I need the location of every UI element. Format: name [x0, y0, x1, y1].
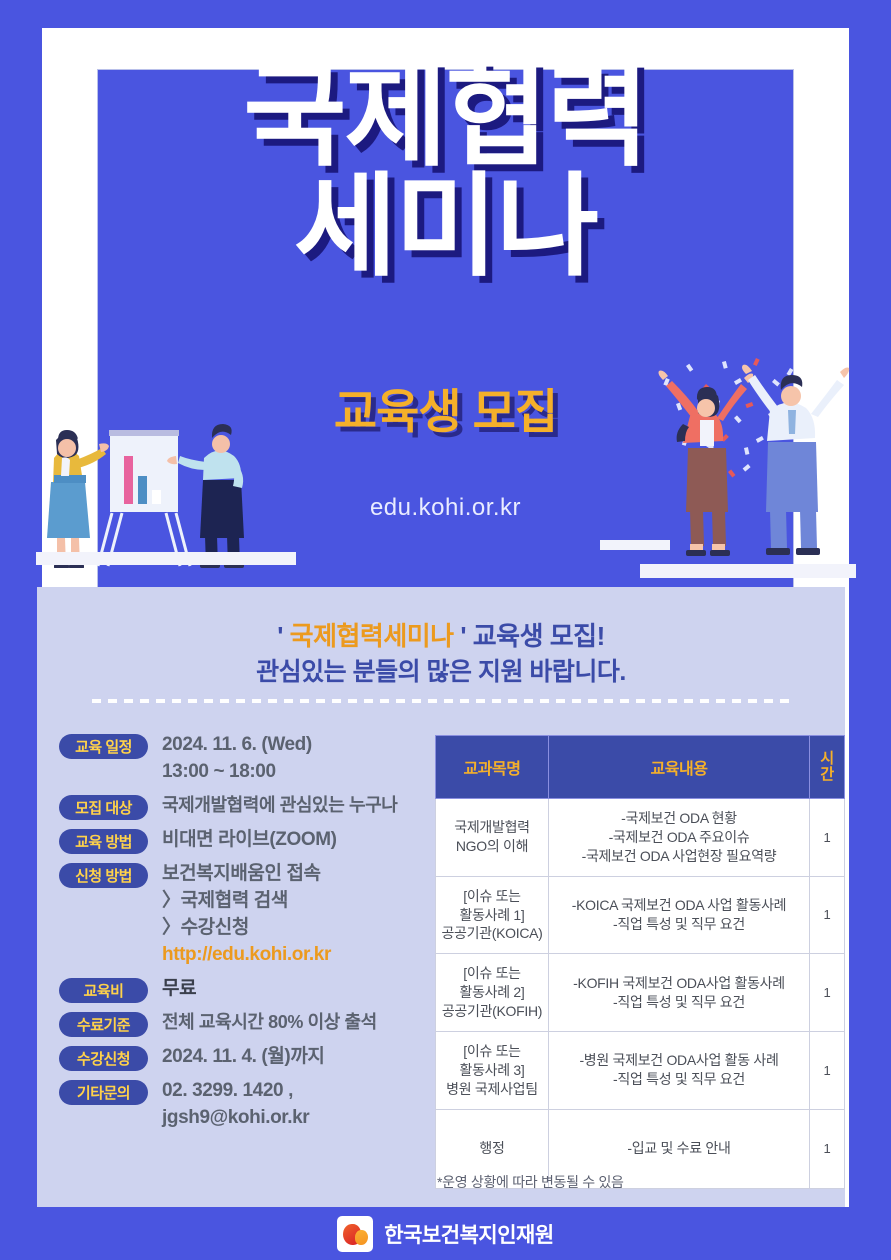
info-label: 수강신청 — [59, 1046, 148, 1071]
info-value: 국제개발협력에 관심있는 누구나 — [162, 793, 397, 819]
info-value: 전체 교육시간 80% 이상 출석 — [162, 1010, 377, 1036]
info-value: 비대면 라이브(ZOOM) — [162, 827, 337, 854]
quote-open: ' — [277, 621, 283, 651]
info-label: 신청 방법 — [59, 863, 148, 888]
curriculum-table-wrap: 교과목명 교육내용 시간 국제개발협력 NGO의 이해 -국제보건 ODA 현황 — [435, 735, 835, 1189]
table-row: [이슈 또는 활동사례 1] 공공기관(KOICA) -KOICA 국제보건 O… — [436, 876, 845, 954]
subject-line: 활동사례 2] — [460, 984, 525, 1000]
content-line: -국제보건 ODA 사업현장 필요역량 — [582, 848, 777, 864]
content-line: -병원 국제보건 ODA사업 활동 사례 — [579, 1052, 778, 1068]
content-line: -직업 특성 및 직무 요건 — [613, 994, 745, 1010]
table-row: [이슈 또는 활동사례 2] 공공기관(KOFIH) -KOFIH 국제보건 O… — [436, 954, 845, 1032]
panel-headline: ' 국제협력세미나 ' 교육생 모집! — [37, 616, 845, 653]
subject-line: 국제개발협력 — [454, 819, 529, 835]
info-label: 모집 대상 — [59, 795, 148, 820]
logo-blob-orange — [355, 1230, 368, 1245]
hero-url: edu.kohi.or.kr — [0, 494, 891, 522]
cell-content: -국제보건 ODA 현황 -국제보건 ODA 주요이슈 -국제보건 ODA 사업… — [549, 799, 810, 877]
info-values: 국제개발협력에 관심있는 누구나 — [162, 793, 397, 819]
cell-content: -병원 국제보건 ODA사업 활동 사례 -직업 특성 및 직무 요건 — [549, 1032, 810, 1110]
info-values: 보건복지배움인 접속 〉국제협력 검색 〉수강신청 http://edu.koh… — [162, 861, 331, 969]
content-line: -직업 특성 및 직무 요건 — [613, 1071, 745, 1087]
content-line: -국제보건 ODA 현황 — [621, 810, 737, 826]
info-row: 수강신청 2024. 11. 4. (월)까지 — [59, 1044, 459, 1071]
subject-line: 활동사례 1] — [460, 907, 525, 923]
info-value: 2024. 11. 4. (월)까지 — [162, 1044, 325, 1071]
headline-rest: 교육생 모집! — [473, 621, 605, 651]
headline-highlight: 국제협력세미나 — [290, 621, 454, 651]
subject-line: [이슈 또는 — [463, 1043, 521, 1059]
info-value: 02. 3299. 1420 , — [162, 1078, 309, 1105]
info-label: 교육비 — [59, 978, 148, 1003]
subject-line: [이슈 또는 — [463, 888, 521, 904]
footer: 한국보건복지인재원 — [0, 1207, 891, 1260]
info-row: 교육 방법 비대면 라이브(ZOOM) — [59, 827, 459, 854]
cell-content: -KOFIH 국제보건 ODA사업 활동사례 -직업 특성 및 직무 요건 — [549, 954, 810, 1032]
content-line: -KOFIH 국제보건 ODA사업 활동사례 — [573, 975, 785, 991]
cell-hours: 1 — [810, 1109, 845, 1188]
info-values: 비대면 라이브(ZOOM) — [162, 827, 337, 854]
kohi-logo-icon — [337, 1216, 373, 1252]
info-label: 교육 일정 — [59, 734, 148, 759]
floor-right-upper — [600, 540, 670, 550]
info-row: 기타문의 02. 3299. 1420 , jgsh9@kohi.or.kr — [59, 1078, 459, 1132]
table-row: 국제개발협력 NGO의 이해 -국제보건 ODA 현황 -국제보건 ODA 주요… — [436, 799, 845, 877]
table-note: *운영 상황에 따라 변동될 수 있음 — [437, 1172, 624, 1192]
info-value: 〉국제협력 검색 — [162, 888, 331, 915]
cell-hours: 1 — [810, 1032, 845, 1110]
quote-close: ' — [460, 621, 466, 651]
info-value: 무료 — [162, 976, 196, 1003]
info-label: 교육 방법 — [59, 829, 148, 854]
info-value: 보건복지배움인 접속 — [162, 861, 331, 888]
cell-subject: [이슈 또는 활동사례 2] 공공기관(KOFIH) — [436, 954, 549, 1032]
table-header-content: 교육내용 — [549, 736, 810, 799]
title-line-2: 세미나 — [0, 170, 891, 284]
cell-subject: [이슈 또는 활동사례 3] 병원 국제사업팀 — [436, 1032, 549, 1110]
info-value: 13:00 ~ 18:00 — [162, 759, 312, 786]
info-list: 교육 일정 2024. 11. 6. (Wed) 13:00 ~ 18:00 모… — [59, 732, 459, 1139]
cell-subject: 국제개발협력 NGO의 이해 — [436, 799, 549, 877]
info-label: 기타문의 — [59, 1080, 148, 1105]
cell-subject: [이슈 또는 활동사례 1] 공공기관(KOICA) — [436, 876, 549, 954]
table-header-row: 교과목명 교육내용 시간 — [436, 736, 845, 799]
info-values: 2024. 11. 4. (월)까지 — [162, 1044, 325, 1071]
contact-email[interactable]: jgsh9@kohi.or.kr — [162, 1105, 309, 1132]
table-row: [이슈 또는 활동사례 3] 병원 국제사업팀 -병원 국제보건 ODA사업 활… — [436, 1032, 845, 1110]
info-row: 신청 방법 보건복지배움인 접속 〉국제협력 검색 〉수강신청 http://e… — [59, 861, 459, 969]
subject-line: 공공기관(KOICA) — [441, 925, 542, 941]
info-panel: ' 국제협력세미나 ' 교육생 모집! 관심있는 분들의 많은 지원 바랍니다.… — [37, 587, 845, 1207]
cell-hours: 1 — [810, 799, 845, 877]
panel-headline-2: 관심있는 분들의 많은 지원 바랍니다. — [37, 652, 845, 688]
subject-line: 공공기관(KOFIH) — [442, 1003, 542, 1019]
info-values: 전체 교육시간 80% 이상 출석 — [162, 1010, 377, 1036]
cell-hours: 1 — [810, 954, 845, 1032]
subject-line: [이슈 또는 — [463, 965, 521, 981]
info-row: 교육 일정 2024. 11. 6. (Wed) 13:00 ~ 18:00 — [59, 732, 459, 786]
info-values: 02. 3299. 1420 , jgsh9@kohi.or.kr — [162, 1078, 309, 1132]
content-line: -국제보건 ODA 주요이슈 — [609, 829, 750, 845]
info-label: 수료기준 — [59, 1012, 148, 1037]
table-header-hours: 시간 — [810, 736, 845, 799]
subject-line: 활동사례 3] — [460, 1062, 525, 1078]
poster-root: 국제협력 세미나 교육생 모집 edu.kohi.or.kr ' 국제협력세미나… — [0, 0, 891, 1260]
table-header-subject: 교과목명 — [436, 736, 549, 799]
floor-left — [36, 552, 296, 565]
dotted-divider — [92, 699, 792, 703]
info-values: 무료 — [162, 976, 196, 1003]
poster-title: 국제협력 세미나 — [0, 60, 891, 284]
application-url[interactable]: http://edu.kohi.or.kr — [162, 942, 331, 969]
info-row: 수료기준 전체 교육시간 80% 이상 출석 — [59, 1010, 459, 1037]
floor-right — [640, 564, 856, 578]
content-line: -KOICA 국제보건 ODA 사업 활동사례 — [572, 897, 786, 913]
title-line-1: 국제협력 — [0, 60, 891, 174]
info-value: 2024. 11. 6. (Wed) — [162, 732, 312, 759]
curriculum-table: 교과목명 교육내용 시간 국제개발협력 NGO의 이해 -국제보건 ODA 현황 — [435, 735, 845, 1189]
poster-subtitle: 교육생 모집 — [0, 373, 891, 442]
subject-line: NGO의 이해 — [456, 838, 528, 854]
subject-line: 병원 국제사업팀 — [446, 1081, 538, 1097]
content-line: -직업 특성 및 직무 요건 — [613, 916, 745, 932]
organization-name: 한국보건복지인재원 — [384, 1219, 553, 1249]
hero-section: 국제협력 세미나 교육생 모집 edu.kohi.or.kr — [0, 0, 891, 590]
info-value: 〉수강신청 — [162, 915, 331, 942]
info-row: 교육비 무료 — [59, 976, 459, 1003]
cell-content: -KOICA 국제보건 ODA 사업 활동사례 -직업 특성 및 직무 요건 — [549, 876, 810, 954]
info-row: 모집 대상 국제개발협력에 관심있는 누구나 — [59, 793, 459, 820]
info-values: 2024. 11. 6. (Wed) 13:00 ~ 18:00 — [162, 732, 312, 786]
cell-hours: 1 — [810, 876, 845, 954]
